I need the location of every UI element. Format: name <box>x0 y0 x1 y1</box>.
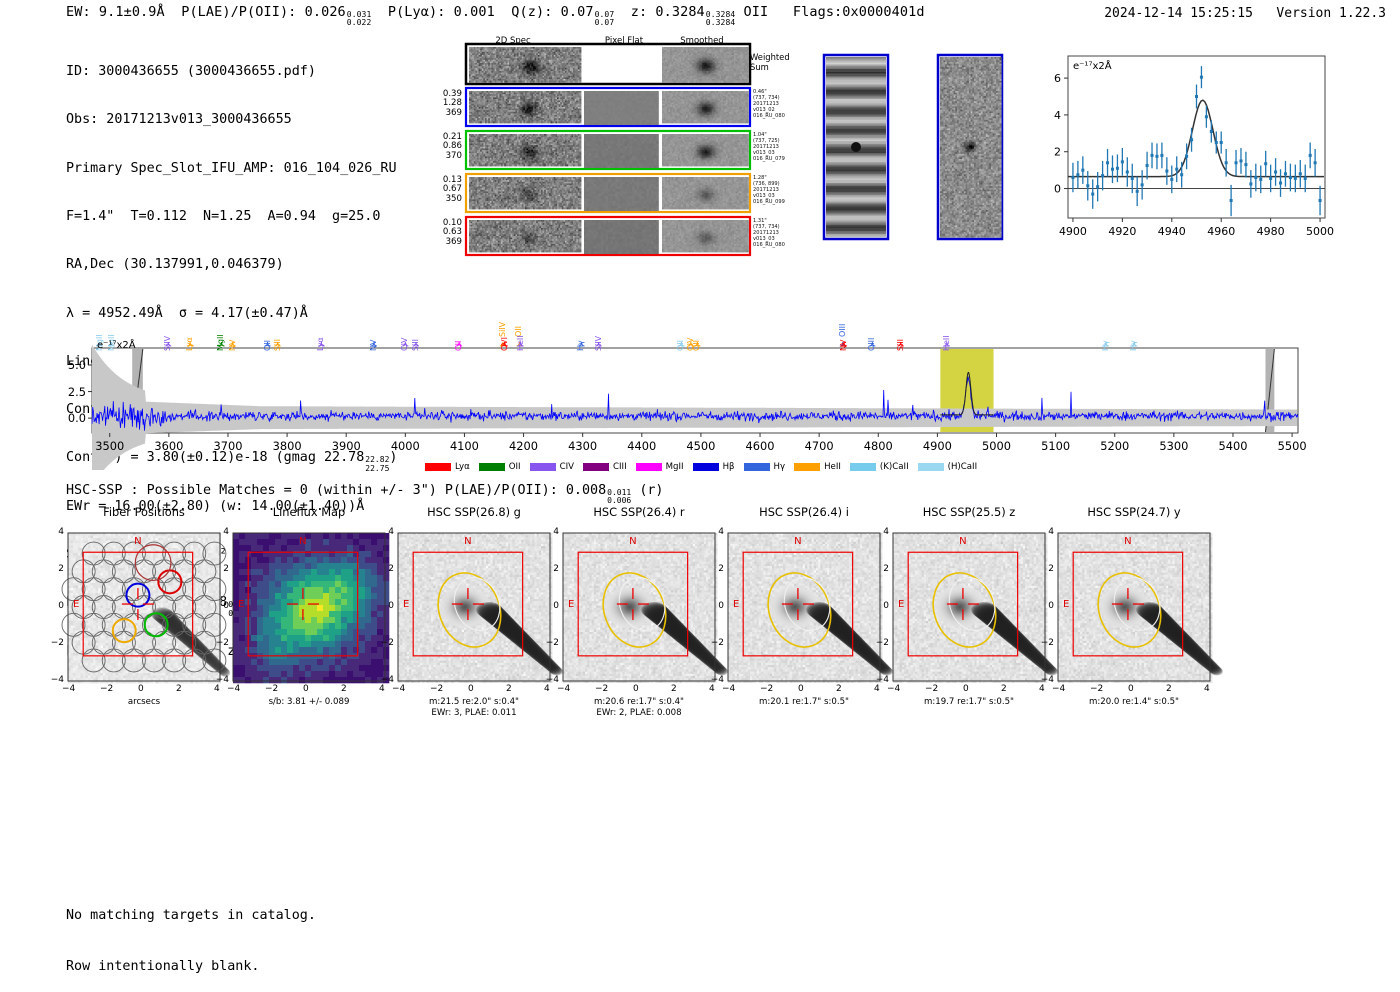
bottom-panel-y-tick: −4 <box>875 675 889 685</box>
spectrum-x-tick: 4400 <box>627 439 656 453</box>
bottom-panel-x-tick: 4 <box>1039 684 1045 694</box>
spectrum-x-tick: 3900 <box>332 439 361 453</box>
bottom-panel-x-tick: 2 <box>341 684 347 694</box>
bottom-panel-x-tick: 4 <box>544 684 550 694</box>
bottom-panel-y-tick: 4 <box>215 527 229 537</box>
legend-swatch <box>479 463 505 471</box>
bottom-panel-x-tick: 2 <box>671 684 677 694</box>
spectrum-line-label: SiIV <box>498 322 507 337</box>
bottom-panel-y-tick: −4 <box>710 675 724 685</box>
bottom-panel-y-tick: 0 <box>215 601 229 611</box>
legend-label: CIV <box>560 462 574 472</box>
bottom-panel-y-tick: 4 <box>545 527 559 537</box>
legend-item: OII <box>479 462 521 472</box>
bottom-panel-y-tick: −2 <box>1040 638 1054 648</box>
spectrum-line-label: NV <box>839 340 848 351</box>
legend-swatch <box>744 463 770 471</box>
bottom-panel-y-tick: 2 <box>710 564 724 574</box>
bottom-panel-caption-line1: m:20.0 re:1.4" s:0.5" <box>1034 697 1234 708</box>
bottom-panel-y-tick: 0 <box>875 601 889 611</box>
legend-label: Lyα <box>455 462 470 472</box>
bottom-panel-y-tick: −4 <box>380 675 394 685</box>
legend-label: HeII <box>824 462 841 472</box>
hsc-summary-text: HSC-SSP : Possible Matches = 0 (within +… <box>66 483 606 498</box>
bottom-panel-x-tick: −4 <box>887 684 900 694</box>
spectrum-x-tick: 4900 <box>923 439 952 453</box>
bottom-panel-y-tick: 4 <box>710 527 724 537</box>
bottom-panel-x-tick: −4 <box>1052 684 1065 694</box>
spectrum-x-tick: 4500 <box>686 439 715 453</box>
bottom-panel-x-tick: 0 <box>138 684 144 694</box>
bottom-panel-x-tick: 2 <box>506 684 512 694</box>
bottom-panel-x-tick: −4 <box>557 684 570 694</box>
legend-label: (K)CaII <box>880 462 909 472</box>
bottom-panel-x-tick: −2 <box>760 684 773 694</box>
bottom-panel-y-tick: 4 <box>380 527 394 537</box>
timestamp: 2024-12-14 15:25:15 <box>1104 6 1253 21</box>
legend-swatch <box>693 463 719 471</box>
spectrum-x-tick: 5000 <box>982 439 1011 453</box>
bottom-panel-x-tick: −4 <box>722 684 735 694</box>
cutouts-canvas <box>0 0 1030 260</box>
bottom-panel-y-tick: 0 <box>50 601 64 611</box>
spectrum-x-tick: 3700 <box>213 439 242 453</box>
legend-swatch <box>918 463 944 471</box>
bottom-panel-y-tick: −2 <box>710 638 724 648</box>
legend-swatch <box>583 463 609 471</box>
bottom-panel-x-tick: 0 <box>468 684 474 694</box>
spectrum-x-tick: 4800 <box>864 439 893 453</box>
bottom-panel-x-tick: −2 <box>595 684 608 694</box>
spectrum-line-label: Lyα <box>185 337 194 351</box>
bottom-panel-x-tick: 2 <box>1166 684 1172 694</box>
bottom-panel-x-tick: 2 <box>836 684 842 694</box>
bottom-panel-y-tick: 0 <box>380 601 394 611</box>
bottom-panel-y-tick: −4 <box>545 675 559 685</box>
footer-message: No matching targets in catalog. Row inte… <box>66 873 316 992</box>
header-timestamp-version: 2024-12-14 15:25:15 Version 1.22.3 <box>1104 6 1386 21</box>
bottom-panel-y-tick: 0 <box>1040 601 1054 611</box>
legend-item: Lyα <box>425 462 470 472</box>
footer-line-2: Row intentionally blank. <box>66 958 316 975</box>
bottom-panel-y-tick: 2 <box>215 564 229 574</box>
spectrum-x-tick: 4300 <box>568 439 597 453</box>
bottom-panel-y-tick: −2 <box>380 638 394 648</box>
bottom-panel-x-tick: 4 <box>214 684 220 694</box>
legend-item: HeII <box>794 462 841 472</box>
legend-label: Hβ <box>723 462 735 472</box>
bottom-panel-y-tick: −2 <box>50 638 64 648</box>
hsc-band-note: (r) <box>639 483 663 498</box>
spectrum-line-label: Hγ <box>1129 340 1138 351</box>
legend-item: Hγ <box>744 462 786 472</box>
spectrum-x-tick: 5100 <box>1041 439 1070 453</box>
bottom-panel-x-tick: 4 <box>1204 684 1210 694</box>
bottom-panel-title: HSC SSP(24.7) y <box>1036 505 1232 519</box>
bottom-panel-x-tick: 0 <box>633 684 639 694</box>
spectrum-x-tick: 4700 <box>805 439 834 453</box>
spectrum-line-label: OII <box>676 340 685 351</box>
legend-label: MgII <box>666 462 684 472</box>
spectrum-y-tick: 0.0 <box>54 411 86 425</box>
spectrum-x-tick: 4100 <box>450 439 479 453</box>
bottom-panel-y-tick: 4 <box>875 527 889 537</box>
spectrum-x-tick: 4200 <box>509 439 538 453</box>
spectrum-line-label: NV <box>369 340 378 351</box>
emission-line-plot: 4900492049404960498050000246e⁻¹⁷x2Å <box>1030 40 1330 260</box>
spectrum-line-label: OII <box>263 340 272 351</box>
bottom-panel-x-tick: −4 <box>227 684 240 694</box>
emission-line-plot-canvas: 4900492049404960498050000246e⁻¹⁷x2Å <box>1030 40 1340 260</box>
spectrum-line-label: OIII <box>838 324 847 337</box>
spectrum-x-tick: 5200 <box>1100 439 1129 453</box>
spectrum-line-label: SiII <box>896 339 905 351</box>
spectrum-legend: LyαOIICIVCIIIMgIIHβHγHeII(K)CaII(H)CaII <box>425 456 986 475</box>
spectrum-line-label: OIII <box>867 338 876 351</box>
bottom-panel-x-tick: −2 <box>1090 684 1103 694</box>
bottom-panel-caption: m:20.0 re:1.4" s:0.5" <box>1034 697 1234 708</box>
spectrum-line-label: SiIV <box>594 336 603 351</box>
bottom-panel-x-tick: −2 <box>430 684 443 694</box>
bottom-panel-y-tick: 0 <box>710 601 724 611</box>
spectrum-line-label: HeII <box>516 335 525 351</box>
legend-swatch <box>794 463 820 471</box>
bottom-panel-y-tick: −2 <box>545 638 559 648</box>
spectrum-y-tick: 2.5 <box>54 385 86 399</box>
bottom-panel-y-tick: −4 <box>215 675 229 685</box>
bottom-panel-y-tick: 0 <box>545 601 559 611</box>
bottom-panel-x-tick: 2 <box>176 684 182 694</box>
full-spectrum-panel: MgIIMgIISiIVLyαMgIINVOIISiIILyαNVCIVSiII… <box>0 270 1400 470</box>
legend-label: Hγ <box>774 462 786 472</box>
spectrum-line-label: Lyα <box>316 337 325 351</box>
bottom-panel-x-tick: 4 <box>709 684 715 694</box>
bottom-panel-y-tick: 2 <box>1040 564 1054 574</box>
bottom-panel-y-tick: −2 <box>215 638 229 648</box>
legend-swatch <box>636 463 662 471</box>
spectrum-x-tick: 3800 <box>273 439 302 453</box>
bottom-panel-x-tick: 4 <box>874 684 880 694</box>
spectrum-y-tick: 5.0 <box>54 358 86 372</box>
bottom-panel-y-tick: 2 <box>545 564 559 574</box>
legend-label: CIII <box>613 462 627 472</box>
bottom-panel-x-tick: 0 <box>303 684 309 694</box>
spectrum-x-tick: 5400 <box>1218 439 1247 453</box>
bottom-panel-y-tick: −4 <box>1040 675 1054 685</box>
spectrum-x-tick: 5300 <box>1159 439 1188 453</box>
bottom-panel-x-tick: −2 <box>100 684 113 694</box>
spectrum-x-tick: 5500 <box>1278 439 1307 453</box>
legend-item: MgII <box>636 462 684 472</box>
bottom-panel-y-tick: −2 <box>875 638 889 648</box>
legend-item: CIII <box>583 462 627 472</box>
spectrum-x-tick: 4000 <box>391 439 420 453</box>
spectrum-line-label: NV <box>228 340 237 351</box>
bottom-panel-y-tick: 4 <box>1040 527 1054 537</box>
bottom-panel-y-tick: 2 <box>380 564 394 574</box>
bottom-panel-x-tick: −4 <box>62 684 75 694</box>
bottom-panel-y-tick: 2 <box>50 564 64 574</box>
legend-item: (K)CaII <box>850 462 909 472</box>
bottom-panel-x-tick: −4 <box>392 684 405 694</box>
legend-item: Hβ <box>693 462 735 472</box>
bottom-panel-x-tick: 2 <box>1001 684 1007 694</box>
spectrum-x-tick: 3600 <box>154 439 183 453</box>
bottom-panel-y-tick: 4 <box>50 527 64 537</box>
spectrum-line-label: OII <box>692 340 701 351</box>
legend-swatch <box>850 463 876 471</box>
legend-swatch <box>425 463 451 471</box>
spectrum-line-label: SiIV <box>163 336 172 351</box>
legend-swatch <box>530 463 556 471</box>
spectrum-line-label: HeII <box>942 335 951 351</box>
spectrum-line-label: SiII <box>411 339 420 351</box>
cutout-section: With Sky x, y: 737, 734 Clean Image x, y… <box>810 0 1030 260</box>
legend-item: (H)CaII <box>918 462 978 472</box>
spectrum-line-label: OVI <box>500 337 509 351</box>
legend-item: CIV <box>530 462 574 472</box>
footer-line-1: No matching targets in catalog. <box>66 907 316 924</box>
bottom-panel-x-tick: 0 <box>1128 684 1134 694</box>
bottom-panel-x-tick: 0 <box>963 684 969 694</box>
legend-label: (H)CaII <box>948 462 978 472</box>
hsc-ssp-summary: HSC-SSP : Possible Matches = 0 (within +… <box>66 483 664 506</box>
spectrum-x-tick: 4600 <box>746 439 775 453</box>
version: Version 1.22.3 <box>1276 6 1386 21</box>
spectrum-flux-annotation: e⁻¹⁷x2Å <box>97 340 136 351</box>
bottom-panel-x-tick: 4 <box>379 684 385 694</box>
bottom-panel-y-tick: 2 <box>875 564 889 574</box>
bottom-panel-y-tick: −4 <box>50 675 64 685</box>
spectrum-x-tick: 3500 <box>95 439 124 453</box>
bottom-panel-caption-line2: EWr: 2, PLAE: 0.008 <box>539 708 739 719</box>
spectrum-line-label: CII <box>454 341 463 351</box>
bottom-panel-x-tick: −2 <box>265 684 278 694</box>
spectrum-line-label: Hγ <box>576 340 585 351</box>
legend-label: OII <box>509 462 521 472</box>
spectrum-line-label: MgII <box>216 334 225 351</box>
spectrum-line-label: CIV <box>400 338 409 351</box>
bottom-panel-x-tick: −2 <box>925 684 938 694</box>
bottom-panels-row: NENENENENENENE Fiber Positions−4−4−2−200… <box>0 505 1400 745</box>
bottom-panel-x-tick: 0 <box>798 684 804 694</box>
spectrum-line-label: Hγ <box>1101 340 1110 351</box>
spectrum-line-label: SiII <box>273 339 282 351</box>
